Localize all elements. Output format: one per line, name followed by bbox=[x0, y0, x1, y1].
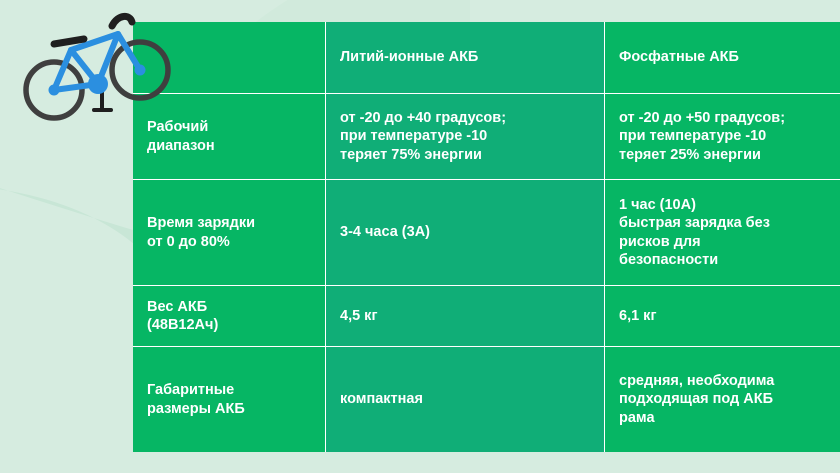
bicycle-saddle bbox=[54, 39, 84, 44]
cell-phosphate-dimensions: средняя, необходима подходящая под АКБ р… bbox=[605, 347, 840, 453]
column-header-lithium: Литий-ионные АКБ bbox=[326, 22, 605, 94]
bicycle-rear-hub bbox=[49, 85, 60, 96]
row-label-weight: Вес АКБ (48В12Ач) bbox=[133, 286, 326, 347]
table-header-row: Литий-ионные АКБ Фосфатные АКБ bbox=[133, 22, 840, 94]
cell-phosphate-weight: 6,1 кг bbox=[605, 286, 840, 347]
table-header: Литий-ионные АКБ Фосфатные АКБ bbox=[133, 22, 840, 94]
cell-lithium-charge-time: 3-4 часа (3А) bbox=[326, 180, 605, 286]
table-body: Рабочий диапазон от -20 до +40 градусов;… bbox=[133, 94, 840, 453]
bicycle-handlebar bbox=[112, 16, 132, 26]
cell-lithium-weight: 4,5 кг bbox=[326, 286, 605, 347]
cell-lithium-dimensions: компактная bbox=[326, 347, 605, 453]
table-row: Время зарядки от 0 до 80% 3-4 часа (3А) … bbox=[133, 180, 840, 286]
row-label-charge-time: Время зарядки от 0 до 80% bbox=[133, 180, 326, 286]
cell-phosphate-charge-time: 1 час (10А) быстрая зарядка без рисков д… bbox=[605, 180, 840, 286]
table-row: Габаритные размеры АКБ компактная средня… bbox=[133, 347, 840, 453]
column-header-phosphate: Фосфатные АКБ bbox=[605, 22, 840, 94]
bicycle-illustration bbox=[14, 4, 174, 126]
bicycle-crank bbox=[88, 74, 108, 94]
cell-phosphate-operating-range: от -20 до +50 градусов; при температуре … bbox=[605, 94, 840, 180]
cell-lithium-operating-range: от -20 до +40 градусов; при температуре … bbox=[326, 94, 605, 180]
table-row: Вес АКБ (48В12Ач) 4,5 кг 6,1 кг bbox=[133, 286, 840, 347]
bicycle-front-hub bbox=[135, 65, 146, 76]
row-label-dimensions: Габаритные размеры АКБ bbox=[133, 347, 326, 453]
battery-comparison-table: Литий-ионные АКБ Фосфатные АКБ Рабочий д… bbox=[133, 22, 840, 452]
table-row: Рабочий диапазон от -20 до +40 градусов;… bbox=[133, 94, 840, 180]
